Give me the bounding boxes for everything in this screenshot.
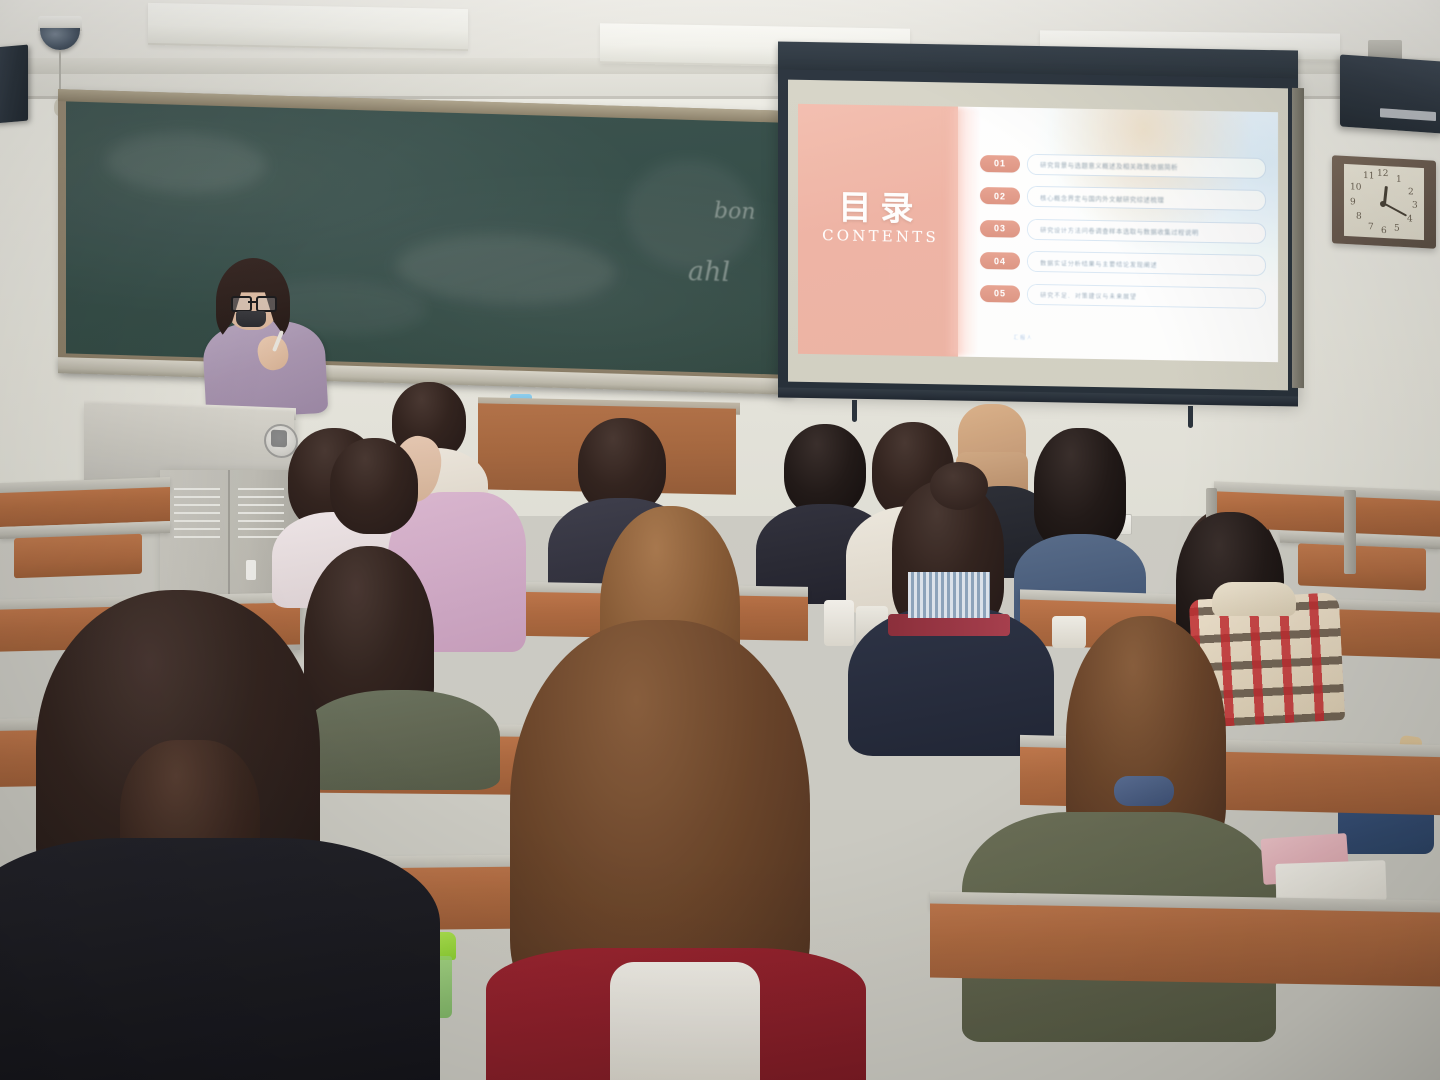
clock-numeral: 9 (1350, 197, 1356, 207)
item-number-badge: 03 (980, 219, 1020, 237)
hair-bun (930, 462, 988, 510)
item-number-badge: 02 (980, 187, 1020, 205)
item-number-badge: 04 (980, 252, 1020, 270)
item-pill: 研究不足、对策建议与未来展望 (1027, 283, 1266, 308)
desk-face-row4-right (930, 904, 1440, 987)
speaker-brand-label (1380, 108, 1436, 121)
screen-tab-left (852, 400, 857, 422)
item-number-badge: 05 (980, 284, 1020, 302)
item-label: 研究设计方法问卷调查样本选取与数据收集过程说明 (1028, 224, 1199, 237)
student-head (330, 438, 418, 534)
desk-leg (1344, 490, 1356, 574)
clock-numeral: 6 (1381, 226, 1387, 236)
list-item: 04 数据实证分析结果与主要结论发现阐述 (980, 249, 1266, 276)
clock-numeral: 10 (1350, 182, 1361, 193)
item-pill: 研究设计方法问卷调查样本选取与数据收集过程说明 (1027, 218, 1266, 243)
clock-numeral: 4 (1407, 214, 1413, 224)
student-head (784, 424, 866, 516)
seat-back-left (14, 534, 142, 578)
list-item: 02 核心概念界定与国内外文献研究综述梳理 (980, 184, 1266, 211)
white-collar (610, 962, 760, 1080)
item-pill: 数据实证分析结果与主要结论发现阐述 (1027, 251, 1266, 276)
list-item: 01 研究背景与选题意义概述及相关政策依据简析 (980, 152, 1266, 179)
plaid-jacket-hood (1212, 582, 1296, 616)
chalk-line-2: ahl (688, 256, 730, 288)
clock-center-pin (1380, 201, 1386, 207)
presentation-slide: 目录 CONTENTS 01 研究背景与选题意义概述及相关政策依据简析 02 核… (798, 104, 1278, 362)
list-item: 05 研究不足、对策建议与未来展望 (980, 282, 1266, 309)
item-pill: 研究背景与选题意义概述及相关政策依据简析 (1027, 153, 1266, 178)
ceiling-light-left (148, 3, 468, 51)
list-item: 03 研究设计方法问卷调查样本选取与数据收集过程说明 (980, 217, 1266, 244)
clock-numeral: 8 (1356, 212, 1362, 222)
clock-numeral: 11 (1363, 171, 1374, 182)
wall-speaker-right (1340, 54, 1440, 133)
item-label: 核心概念界定与国内外文献研究综述梳理 (1028, 191, 1164, 203)
seat-back-right (1298, 543, 1426, 590)
presenter-jacket (202, 319, 329, 419)
slide-title-cn: 目录 (798, 180, 963, 231)
student-body (300, 690, 500, 790)
slide-contents-list: 01 研究背景与选题意义概述及相关政策依据简析 02 核心概念界定与国内外文献研… (980, 152, 1266, 319)
face-mask (236, 311, 266, 327)
slide-footer-note: 汇报人 (1013, 333, 1033, 342)
item-label: 研究背景与选题意义概述及相关政策依据简析 (1028, 159, 1178, 172)
slide-subtitle-en: CONTENTS (798, 226, 963, 247)
student-head (1034, 428, 1126, 548)
clock-numeral: 12 (1377, 169, 1388, 180)
foreground-student-body-left (0, 838, 440, 1080)
clock-numeral: 3 (1412, 200, 1418, 210)
item-pill: 核心概念界定与国内外文献研究综述梳理 (1027, 186, 1266, 211)
item-number-badge: 01 (980, 154, 1020, 172)
clock-numeral: 2 (1408, 187, 1414, 197)
lecture-hall-photo: bon ahl 目录 CONTENTS 01 研究背景与选题意义概述及相关政策依… (0, 0, 1440, 1080)
green-chalkboard: bon ahl (66, 101, 780, 374)
screen-right-edge (1292, 88, 1304, 388)
clock-numeral: 7 (1368, 222, 1374, 232)
glasses-icon (231, 296, 273, 308)
white-cup (1052, 616, 1086, 648)
clock-numeral: 5 (1394, 224, 1400, 234)
clock-face: 12 1 2 3 4 5 6 7 8 9 10 11 (1344, 164, 1424, 240)
item-label: 数据实证分析结果与主要结论发现阐述 (1028, 256, 1157, 268)
white-thermos (824, 600, 854, 646)
crest-shield-icon (271, 430, 287, 448)
clock-minute-hand (1384, 203, 1406, 216)
pull-down-projection-screen: 目录 CONTENTS 01 研究背景与选题意义概述及相关政策依据简析 02 核… (788, 80, 1288, 391)
item-label: 研究不足、对策建议与未来展望 (1028, 289, 1137, 301)
cabinet-handle[interactable] (246, 560, 256, 580)
wall-speaker-left (0, 45, 28, 124)
clock-numeral: 1 (1396, 175, 1402, 185)
screen-tab-right (1188, 406, 1193, 428)
striped-shirt (908, 572, 990, 618)
chalk-line-1: bon (714, 199, 756, 225)
hair-scrunchie (1114, 776, 1174, 806)
